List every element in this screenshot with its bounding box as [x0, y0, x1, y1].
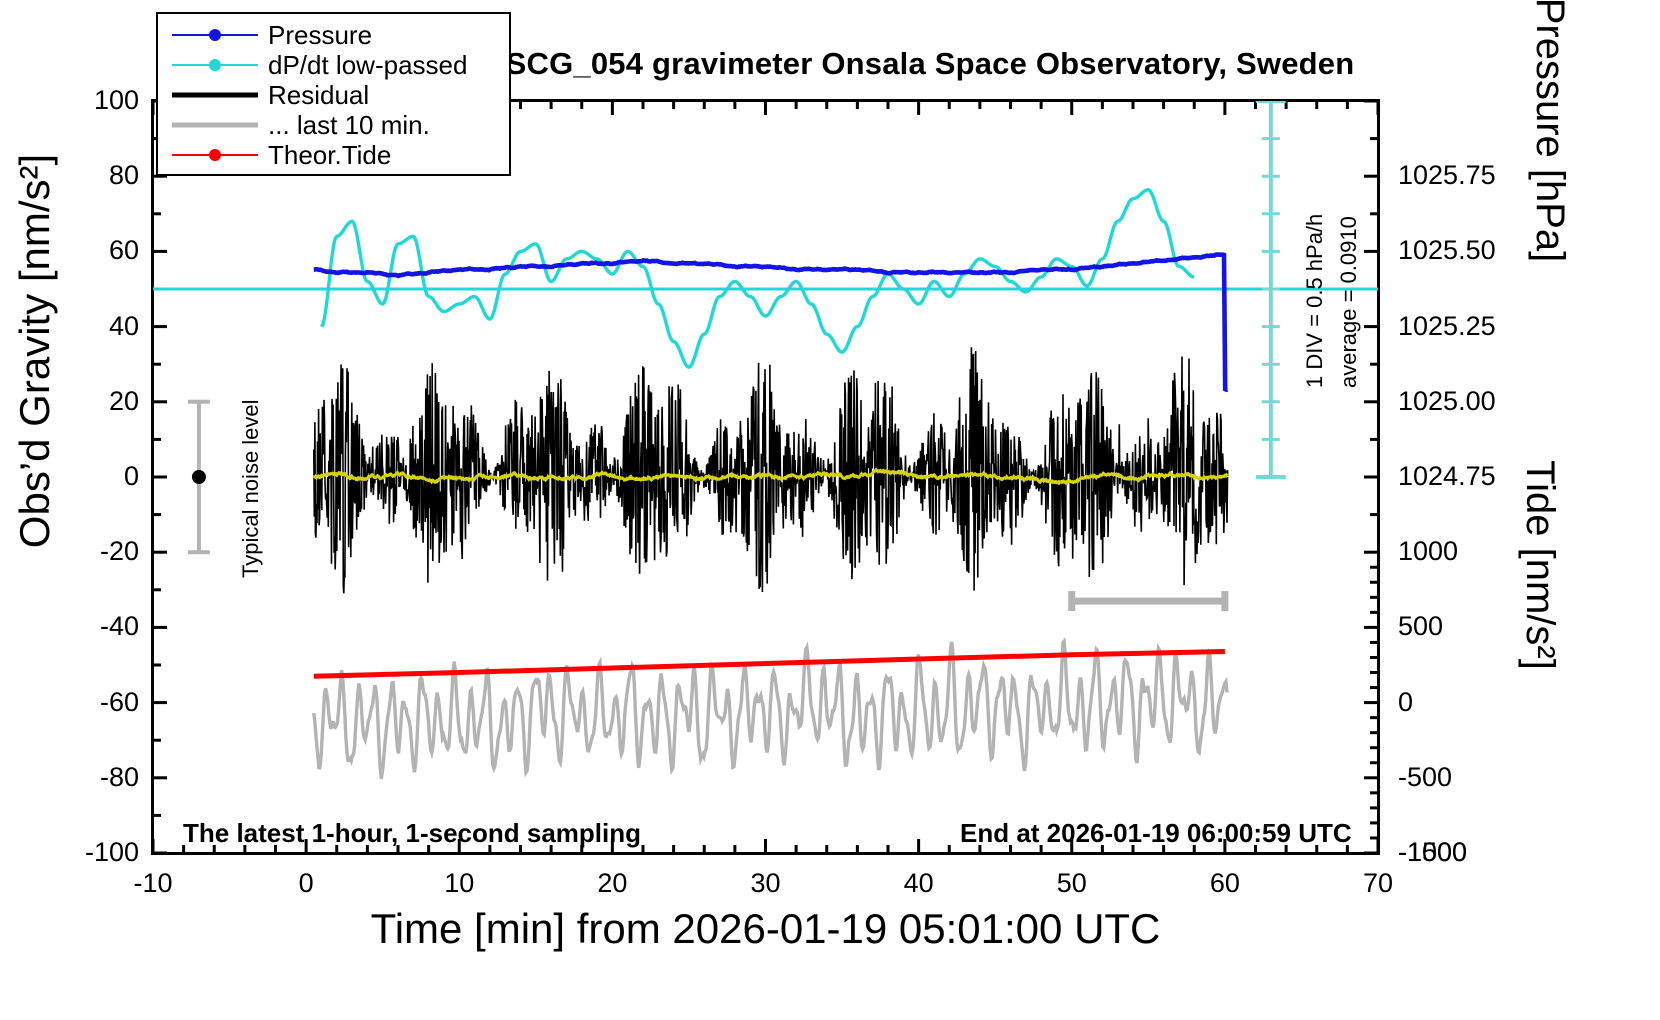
series-dpdt-lowpassed [321, 190, 1194, 368]
axis-tick-label: 20 [552, 870, 672, 897]
axis-tick-label: 30 [706, 870, 826, 897]
series-residual [314, 347, 1228, 593]
legend-item-label: Pressure [268, 22, 372, 48]
status-text-end-time: End at 2026-01-19 06:00:59 UTC [960, 818, 1352, 849]
axis-tick-label: 60 [1165, 870, 1285, 897]
legend[interactable]: PressuredP/dt low-passedResidual... last… [156, 12, 511, 176]
axis-tick-label: 80 [109, 162, 139, 189]
axis-tick-label: -10 [93, 870, 213, 897]
legend-item-label: Theor.Tide [268, 142, 391, 168]
legend-swatch-icon [172, 116, 258, 134]
typical-noise-level-label: Typical noise level [238, 399, 264, 578]
axis-tick-label: -100 [85, 839, 139, 866]
axis-tick-label: 40 [859, 870, 979, 897]
legend-item-label: ... last 10 min. [268, 112, 430, 138]
axis-tick-label: -80 [100, 764, 139, 791]
axis-tick-label: 40 [109, 313, 139, 340]
axis-tick-label: -60 [100, 689, 139, 716]
last-10-min-span-bar [1072, 591, 1225, 611]
div-scale-label: 1 DIV = 0.5 hPa/h [1302, 214, 1328, 388]
legend-item-label: dP/dt low-passed [268, 52, 467, 78]
axis-tick-label: 20 [109, 388, 139, 415]
axis-tick-label: 70 [1318, 870, 1438, 897]
legend-item-pressure[interactable]: Pressure [158, 20, 509, 50]
axis-tick-label: 1025.00 [1398, 388, 1496, 415]
axis-tick-label: 10 [399, 870, 519, 897]
axis-tick-label: 1025.25 [1398, 313, 1496, 340]
axis-tick-label: 50 [1012, 870, 1132, 897]
legend-swatch-icon [172, 86, 258, 104]
legend-swatch-icon [172, 26, 258, 44]
legend-swatch-icon [172, 56, 258, 74]
axis-tick-label: 1000 [1398, 538, 1458, 565]
axis-tick-label: -40 [100, 613, 139, 640]
legend-swatch-icon [172, 146, 258, 164]
chart-canvas: SCG_054 gravimeter Onsala Space Observat… [0, 0, 1660, 1020]
legend-item-last-10-min[interactable]: ... last 10 min. [158, 110, 509, 140]
axis-tick-label: 1025.50 [1398, 237, 1496, 264]
axis-tick-label: 0 [124, 463, 139, 490]
legend-item-label: Residual [268, 82, 369, 108]
status-text-latest: The latest 1-hour, 1-second sampling [183, 818, 641, 849]
axis-tick-label: 1025.75 [1398, 162, 1496, 189]
axis-tick-label: 60 [109, 237, 139, 264]
axis-tick-label: 500 [1398, 613, 1443, 640]
axis-tick-label: -1500 [1398, 839, 1467, 866]
legend-item-residual[interactable]: Residual [158, 80, 509, 110]
legend-item-theor-tide[interactable]: Theor.Tide [158, 140, 509, 170]
axis-tick-label: 1024.75 [1398, 463, 1496, 490]
average-label: average = 0.0910 [1336, 216, 1362, 388]
series-theor-tide [314, 652, 1225, 677]
legend-item-dp-dt-low-passed[interactable]: dP/dt low-passed [158, 50, 509, 80]
axis-tick-label: 0 [1398, 689, 1413, 716]
axis-tick-label: 100 [94, 87, 139, 114]
typical-noise-level-errorbar [188, 402, 210, 552]
axis-tick-label: 0 [246, 870, 366, 897]
axis-tick-label: -500 [1398, 764, 1452, 791]
axis-tick-label: -20 [100, 538, 139, 565]
